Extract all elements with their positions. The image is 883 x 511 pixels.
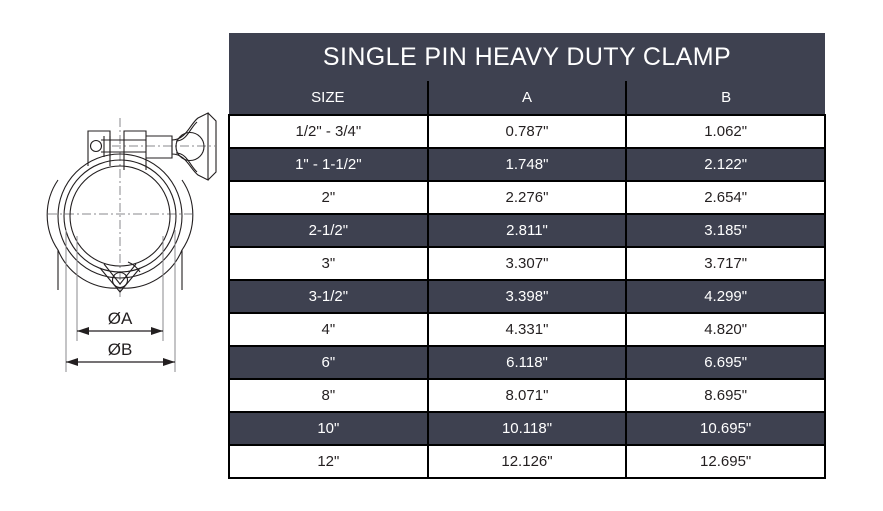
dimension-a: [77, 327, 163, 335]
cell-size: 1" - 1-1/2": [229, 148, 428, 181]
table-title: SINGLE PIN HEAVY DUTY CLAMP: [229, 33, 825, 81]
table-row: 4"4.331"4.820": [229, 313, 825, 346]
bolt-body: [146, 136, 172, 158]
table-row: 12"12.126"12.695": [229, 445, 825, 478]
table-row: 1" - 1-1/2"1.748"2.122": [229, 148, 825, 181]
cell-b: 6.695": [626, 346, 825, 379]
table-row: 8"8.071"8.695": [229, 379, 825, 412]
cell-size: 10": [229, 412, 428, 445]
cell-b: 12.695": [626, 445, 825, 478]
clamp-drawing-panel: ØA ØB: [0, 0, 228, 511]
clamp-dimension-table: SINGLE PIN HEAVY DUTY CLAMP SIZE A B 1/2…: [228, 33, 826, 479]
cell-size: 6": [229, 346, 428, 379]
cell-b: 2.122": [626, 148, 825, 181]
cell-size: 2": [229, 181, 428, 214]
table-row: 10"10.118"10.695": [229, 412, 825, 445]
table-row: 3-1/2"3.398"4.299": [229, 280, 825, 313]
cell-size: 12": [229, 445, 428, 478]
dimension-b: [66, 358, 175, 366]
cell-a: 4.331": [428, 313, 627, 346]
clamp-lug-right: [124, 131, 146, 170]
cell-size: 4": [229, 313, 428, 346]
cell-b: 4.299": [626, 280, 825, 313]
column-header-size: SIZE: [229, 81, 428, 115]
cell-b: 1.062": [626, 115, 825, 148]
table-row: 3"3.307"3.717": [229, 247, 825, 280]
table-header-row: SIZE A B: [229, 81, 825, 115]
cell-b: 10.695": [626, 412, 825, 445]
cell-b: 2.654": [626, 181, 825, 214]
table-row: 2-1/2"2.811"3.185": [229, 214, 825, 247]
cell-a: 1.748": [428, 148, 627, 181]
cell-size: 1/2" - 3/4": [229, 115, 428, 148]
cell-b: 3.185": [626, 214, 825, 247]
cell-size: 3-1/2": [229, 280, 428, 313]
dimension-b-label: ØB: [108, 340, 133, 359]
table-row: 6"6.118"6.695": [229, 346, 825, 379]
single-pin-clamp-diagram: ØA ØB: [0, 0, 228, 511]
cell-a: 10.118": [428, 412, 627, 445]
cell-a: 0.787": [428, 115, 627, 148]
cell-b: 4.820": [626, 313, 825, 346]
cell-a: 2.811": [428, 214, 627, 247]
column-header-a: A: [428, 81, 627, 115]
cell-a: 2.276": [428, 181, 627, 214]
cell-a: 3.398": [428, 280, 627, 313]
cell-b: 8.695": [626, 379, 825, 412]
cell-a: 3.307": [428, 247, 627, 280]
dimension-a-label: ØA: [108, 309, 133, 328]
cell-size: 3": [229, 247, 428, 280]
column-header-b: B: [626, 81, 825, 115]
cell-b: 3.717": [626, 247, 825, 280]
cell-a: 12.126": [428, 445, 627, 478]
cell-a: 6.118": [428, 346, 627, 379]
table-row: 1/2" - 3/4"0.787"1.062": [229, 115, 825, 148]
table-row: 2"2.276"2.654": [229, 181, 825, 214]
table-title-row: SINGLE PIN HEAVY DUTY CLAMP: [229, 33, 825, 81]
cell-a: 8.071": [428, 379, 627, 412]
cell-size: 8": [229, 379, 428, 412]
cell-size: 2-1/2": [229, 214, 428, 247]
